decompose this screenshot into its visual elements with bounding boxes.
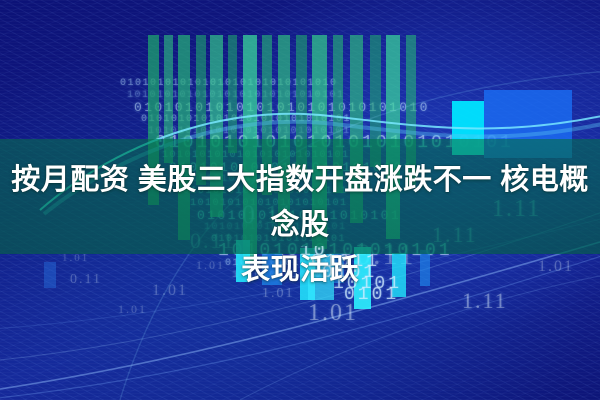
headline-line-1: 按月配资 美股三大指数开盘涨跌不一 核电概念股 [0,158,600,248]
headline-block: 按月配资 美股三大指数开盘涨跌不一 核电概念股 表现活跃 [0,158,600,293]
stock-news-banner: 0101010101010101010101010101010101010101… [0,0,600,400]
headline-line-2: 表现活跃 [0,248,600,293]
